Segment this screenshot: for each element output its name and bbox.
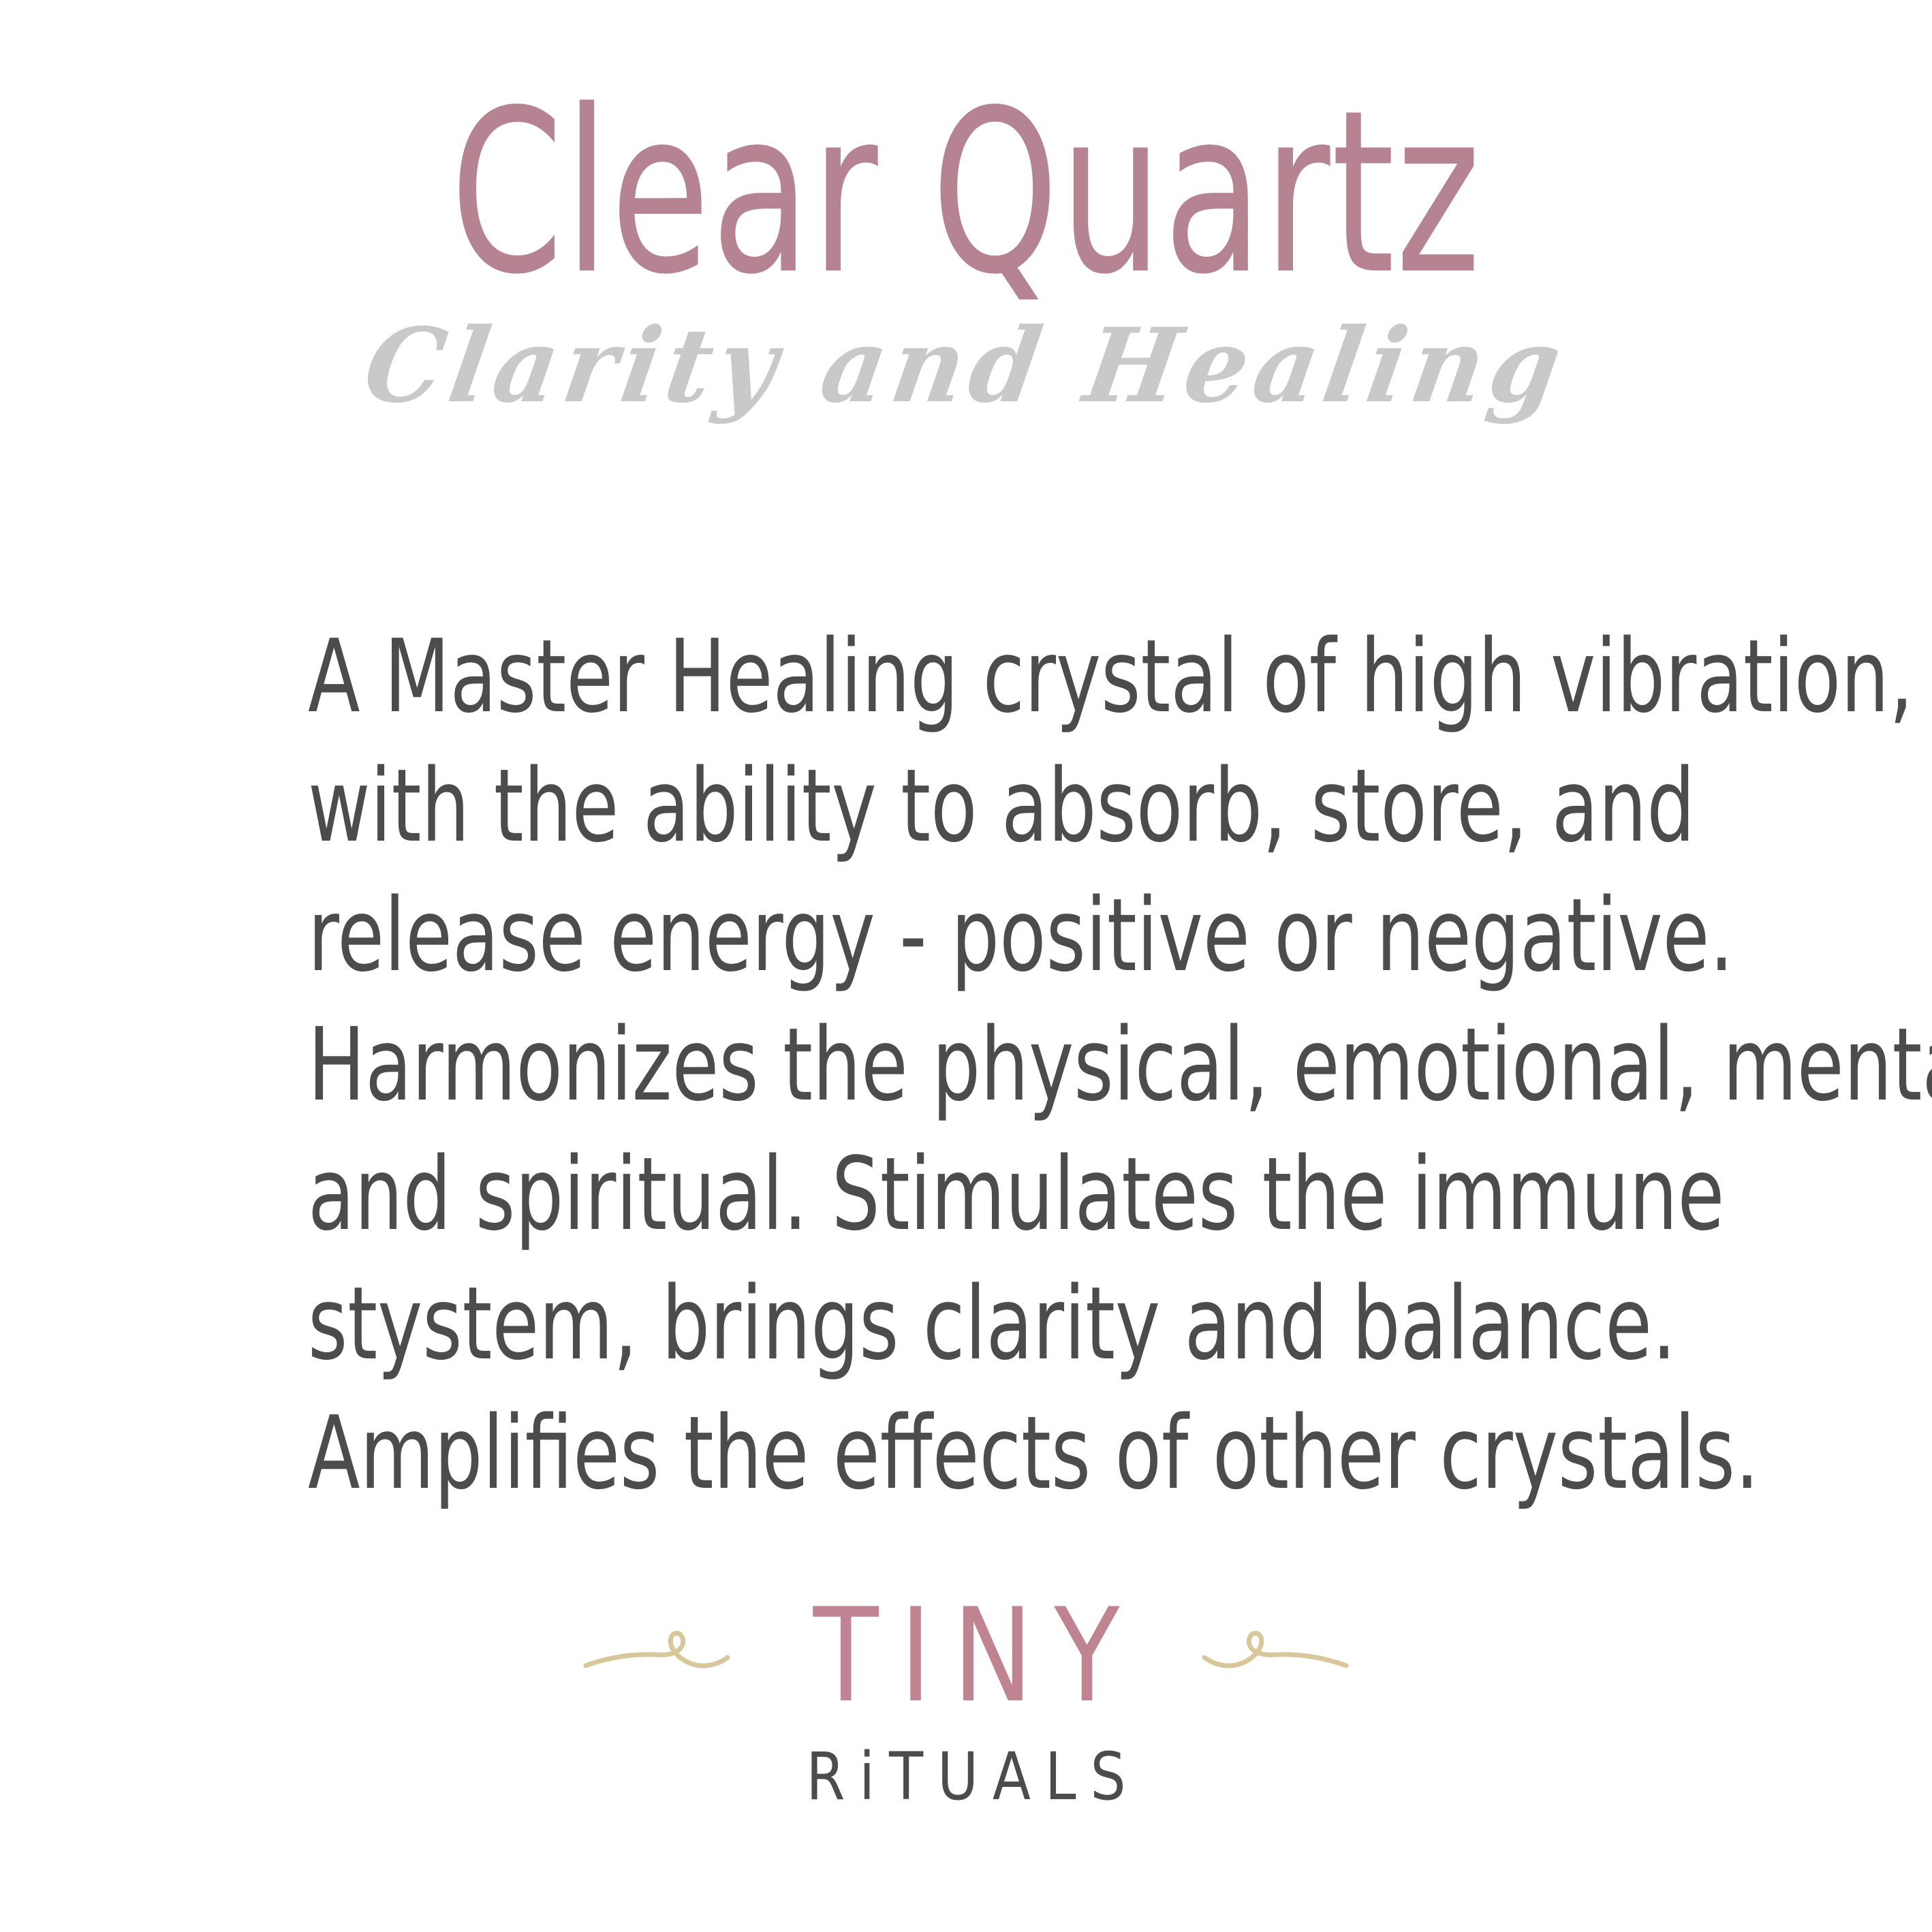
subtitle-block: Clarity and Healing bbox=[0, 315, 1932, 417]
page-subtitle: Clarity and Healing bbox=[358, 315, 1574, 417]
description-line: stystem, brings clarity and balance. bbox=[308, 1259, 1624, 1388]
description-line: and spiritual. Stimulates the immune bbox=[308, 1129, 1624, 1259]
brand-logo-row: TINY bbox=[580, 1591, 1352, 1721]
flourish-swash-left-icon bbox=[580, 1615, 737, 1697]
description-line: Harmonizes the physical, emotional, ment… bbox=[308, 1000, 1624, 1129]
brand-logo: TINY RiTUALS bbox=[0, 1591, 1932, 1809]
description-line: release energy - positive or negative. bbox=[308, 871, 1624, 1000]
description-line: A Master Healing crystal of high vibrati… bbox=[308, 612, 1624, 741]
flourish-swash-right-icon bbox=[1195, 1615, 1352, 1697]
page-title: Clear Quartz bbox=[193, 80, 1739, 305]
crystal-info-card: Clear Quartz Clarity and Healing A Maste… bbox=[0, 0, 1932, 1932]
description-line: Amplifies the effects of other crystals. bbox=[308, 1388, 1624, 1518]
brand-sub-wordmark: RiTUALS bbox=[792, 1744, 1140, 1809]
brand-wordmark: TINY bbox=[792, 1591, 1140, 1721]
description-line: with the ability to absorb, store, and bbox=[308, 741, 1624, 871]
description-paragraph: A Master Healing crystal of high vibrati… bbox=[183, 612, 1749, 1518]
title-block: Clear Quartz bbox=[0, 80, 1932, 305]
